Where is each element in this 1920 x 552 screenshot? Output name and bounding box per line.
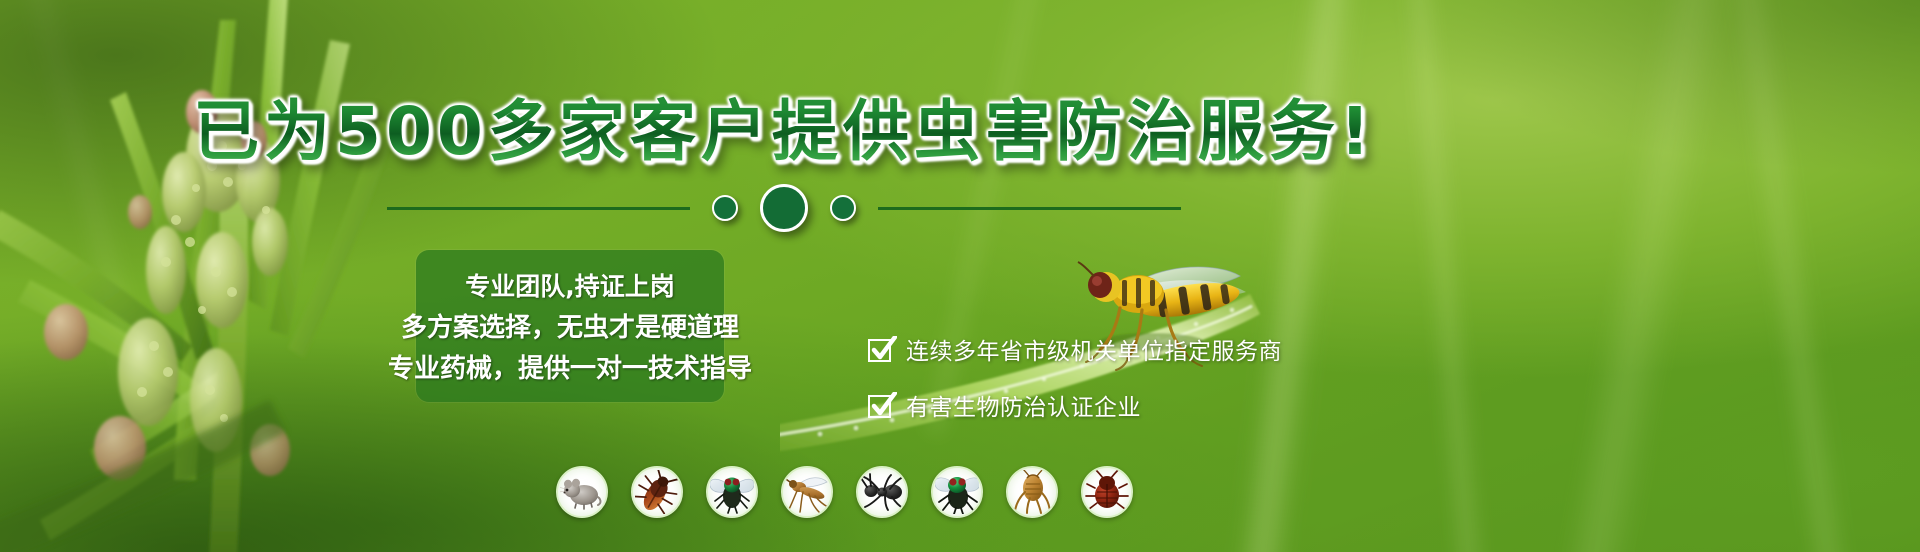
decor-dot-large xyxy=(760,184,808,232)
slogan-line-1: 专业团队,持证上岗 xyxy=(340,267,800,303)
mosquito-icon xyxy=(781,466,833,518)
checklist-item: 连续多年省市级机关单位指定服务商 xyxy=(868,332,1282,366)
bedbug-icon xyxy=(1081,466,1133,518)
fly-icon xyxy=(706,466,758,518)
pest-control-banner: 已为500多家客户提供虫害防治服务! 专业团队,持证上岗 多方案选择，无虫才是硬… xyxy=(0,0,1920,552)
pest-icon-row xyxy=(556,466,1133,518)
page-title: 已为500多家客户提供虫害防治服务! xyxy=(0,78,1568,174)
decorative-divider xyxy=(0,188,1568,228)
cockroach-icon xyxy=(631,466,683,518)
slogan-lines: 专业团队,持证上岗 多方案选择，无虫才是硬道理 专业药械，提供一对一技术指导 xyxy=(340,250,800,402)
checklist-item-label: 连续多年省市级机关单位指定服务商 xyxy=(906,332,1282,366)
decor-dot-small-left xyxy=(712,195,738,221)
decor-dot-small-right xyxy=(830,195,856,221)
slogan-line-3: 专业药械，提供一对一技术指导 xyxy=(340,348,800,385)
blowfly-icon xyxy=(931,466,983,518)
slogan-line-2: 多方案选择，无虫才是硬道理 xyxy=(340,307,800,344)
credentials-checklist: 连续多年省市级机关单位指定服务商 有害生物防治认证企业 xyxy=(868,332,1282,422)
divider-line-left xyxy=(387,207,690,210)
flea-icon xyxy=(1006,466,1058,518)
checklist-item: 有害生物防治认证企业 xyxy=(868,388,1282,422)
checkbox-checked-icon xyxy=(868,392,895,419)
slogan-panel: 专业团队,持证上岗 多方案选择，无虫才是硬道理 专业药械，提供一对一技术指导 xyxy=(416,250,724,402)
checkbox-checked-icon xyxy=(868,336,895,363)
checklist-item-label: 有害生物防治认证企业 xyxy=(906,388,1141,422)
ant-icon xyxy=(856,466,908,518)
divider-line-right xyxy=(878,207,1181,210)
mouse-icon xyxy=(556,466,608,518)
